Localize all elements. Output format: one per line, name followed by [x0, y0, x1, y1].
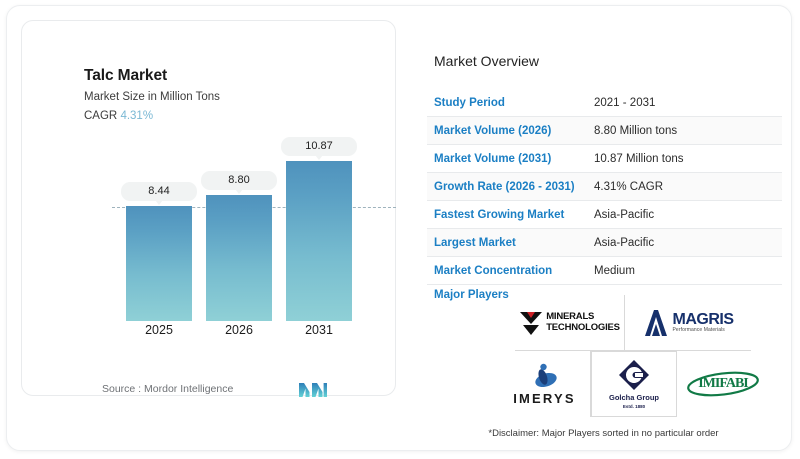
cagr-value: 4.31% [120, 110, 153, 122]
player-name-line1: MAGRIS [673, 312, 734, 327]
row-value-fastest-growing-market: Asia-Pacific [594, 209, 654, 221]
row-value-largest-market: Asia-Pacific [594, 237, 654, 249]
player-name-line1: Golcha Group [609, 393, 659, 402]
row-value-market-volume-2031: 10.87 Million tons [594, 153, 684, 165]
player-name-line2: TECHNOLOGIES [546, 323, 620, 334]
player-name-line1: MINERALS [546, 312, 620, 323]
market-overview-table: Study Period 2021 - 2031 Market Volume (… [427, 89, 782, 285]
player-name-line1: IMERYS [513, 391, 576, 406]
source-text: Source : Mordor Intelligence [102, 383, 233, 395]
row-value-market-concentration: Medium [594, 265, 635, 277]
table-row: Market Concentration Medium [427, 257, 782, 285]
infographic-frame: Talc Market Market Size in Million Tons … [6, 5, 792, 451]
bar-value-label-2026: 8.80 [201, 171, 277, 190]
page-title: Talc Market [84, 67, 167, 85]
chart-cagr: CAGR 4.31% [84, 110, 153, 122]
table-row: Study Period 2021 - 2031 [427, 89, 782, 117]
player-logo-minerals-technologies: MINERALS TECHNOLOGIES [515, 295, 625, 351]
row-label-market-concentration: Market Concentration [427, 265, 594, 277]
chart-subtitle: Market Size in Million Tons [84, 91, 220, 103]
x-axis-tick-2031: 2031 [286, 323, 352, 337]
market-overview-title: Market Overview [434, 53, 539, 69]
bar-chart: 8.44 8.80 10.87 2025 2026 2031 [36, 131, 396, 351]
disclaimer-text: *Disclaimer: Major Players sorted in no … [431, 428, 776, 439]
player-logo-imi-fabi: IMIFABI [677, 351, 769, 417]
imerys-mark-icon [530, 363, 560, 389]
row-value-study-period: 2021 - 2031 [594, 97, 655, 109]
mordor-intelligence-logo [298, 382, 328, 398]
row-label-fastest-growing-market: Fastest Growing Market [427, 209, 594, 221]
cagr-label: CAGR [84, 110, 117, 122]
major-players-label: Major Players [434, 289, 509, 301]
bar-2025 [126, 206, 192, 321]
table-row: Growth Rate (2026 - 2031) 4.31% CAGR [427, 173, 782, 201]
bar-2026 [206, 195, 272, 321]
table-row: Fastest Growing Market Asia-Pacific [427, 201, 782, 229]
player-name-line2: Performance Materials [673, 327, 734, 333]
table-row: Market Volume (2031) 10.87 Million tons [427, 145, 782, 173]
chart-card: Talc Market Market Size in Million Tons … [21, 20, 396, 396]
player-logo-golcha-group: Golcha Group Estd. 1880 [591, 351, 677, 417]
row-value-growth-rate: 4.31% CAGR [594, 181, 663, 193]
row-label-growth-rate: Growth Rate (2026 - 2031) [427, 181, 594, 193]
row-label-market-volume-2026: Market Volume (2026) [427, 125, 594, 137]
x-axis-tick-2025: 2025 [126, 323, 192, 337]
table-row: Market Volume (2026) 8.80 Million tons [427, 117, 782, 145]
bar-value-label-2031: 10.87 [281, 137, 357, 156]
golcha-diamond-icon [618, 359, 650, 391]
bar-value-label-2025: 8.44 [121, 182, 197, 201]
row-label-largest-market: Largest Market [427, 237, 594, 249]
bar-2031 [286, 161, 352, 321]
minerals-technologies-mark-icon [519, 310, 543, 336]
table-row: Largest Market Asia-Pacific [427, 229, 782, 257]
row-value-market-volume-2026: 8.80 Million tons [594, 125, 677, 137]
player-logo-magris: MAGRIS Performance Materials [625, 295, 751, 351]
player-name-line2: Estd. 1880 [623, 404, 645, 409]
major-players-logos: MINERALS TECHNOLOGIES MAGRIS Performance… [515, 295, 751, 417]
magris-chevron-icon [643, 309, 669, 337]
row-label-market-volume-2031: Market Volume (2031) [427, 153, 594, 165]
x-axis-tick-2026: 2026 [206, 323, 272, 337]
row-label-study-period: Study Period [427, 97, 594, 109]
player-logo-imerys: IMERYS [499, 351, 591, 417]
imi-fabi-swoosh-icon [684, 369, 762, 399]
